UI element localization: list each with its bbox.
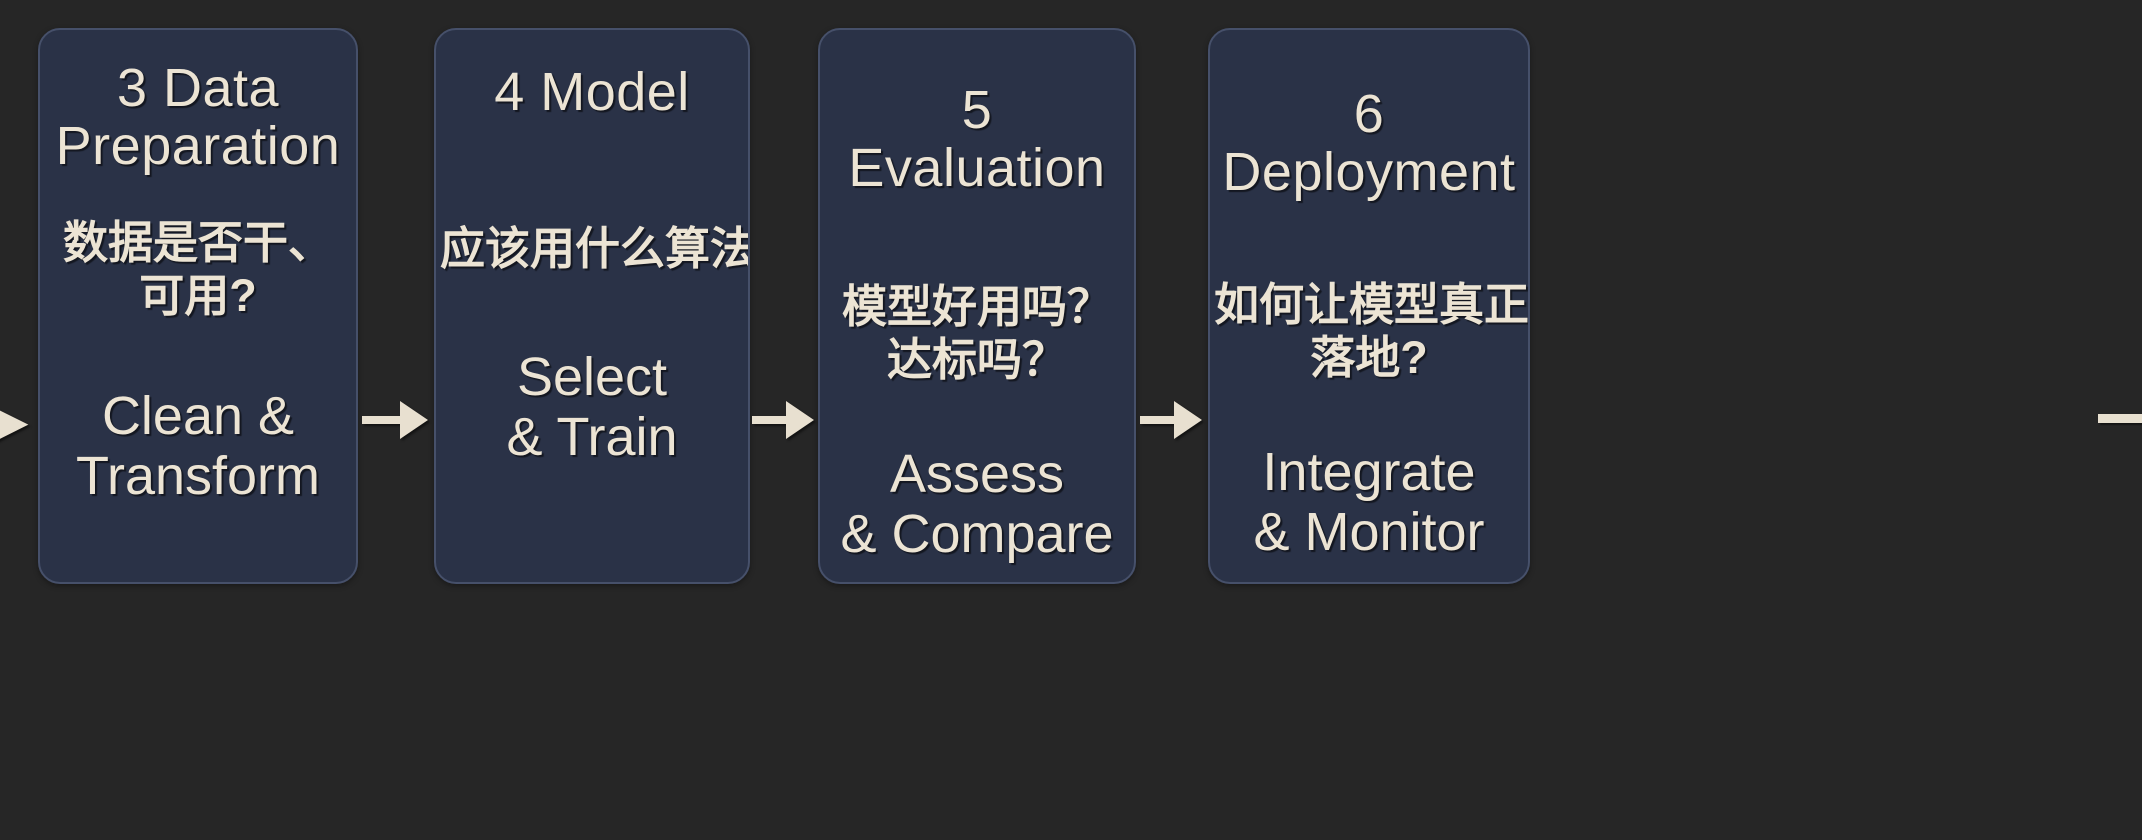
- arrow-right-icon: [1138, 393, 1206, 447]
- step-card-action: Integrate & Monitor: [1210, 442, 1528, 563]
- connector-arrow-evaluation-to-deployment: [1136, 0, 1208, 840]
- flowchart-canvas: ► 3 Data Preparation 数据是否干、 可用? Clean & …: [0, 0, 2142, 840]
- connector-arrow-data-preparation-to-model: [358, 0, 434, 840]
- step-card-action: Select & Train: [436, 347, 748, 468]
- connector-arrow-model-to-evaluation: [750, 0, 818, 840]
- step-card-title: 4 Model: [436, 64, 748, 122]
- step-card-title: 5 Evaluation: [820, 82, 1134, 198]
- step-card-data-preparation[interactable]: 3 Data Preparation 数据是否干、 可用? Clean & Tr…: [38, 28, 358, 584]
- step-card-evaluation[interactable]: 5 Evaluation 模型好用吗？ 达标吗？ Assess & Compar…: [818, 28, 1136, 584]
- step-card-deployment[interactable]: 6 Deployment 如何让模型真正 落地? Integrate & Mon…: [1208, 28, 1530, 584]
- step-card-question: 如何让模型真正 落地?: [1210, 278, 1528, 384]
- step-card-question: 模型好用吗？ 达标吗？: [820, 280, 1134, 386]
- step-card-action: Assess & Compare: [820, 444, 1134, 565]
- line-segment-icon: [2098, 414, 2142, 423]
- step-card-title: 3 Data Preparation: [40, 60, 356, 176]
- step-card-question: 应该用什么算法?: [436, 222, 748, 275]
- connector-arrow-into-data-preparation: ►: [0, 0, 36, 840]
- step-card-action: Clean & Transform: [40, 386, 356, 507]
- arrow-right-icon: [360, 393, 432, 447]
- step-card-model[interactable]: 4 Model 应该用什么算法? Select & Train: [434, 28, 750, 584]
- step-card-question: 数据是否干、 可用?: [40, 216, 356, 322]
- arrow-right-icon: [750, 393, 818, 447]
- step-card-title: 6 Deployment: [1210, 86, 1528, 202]
